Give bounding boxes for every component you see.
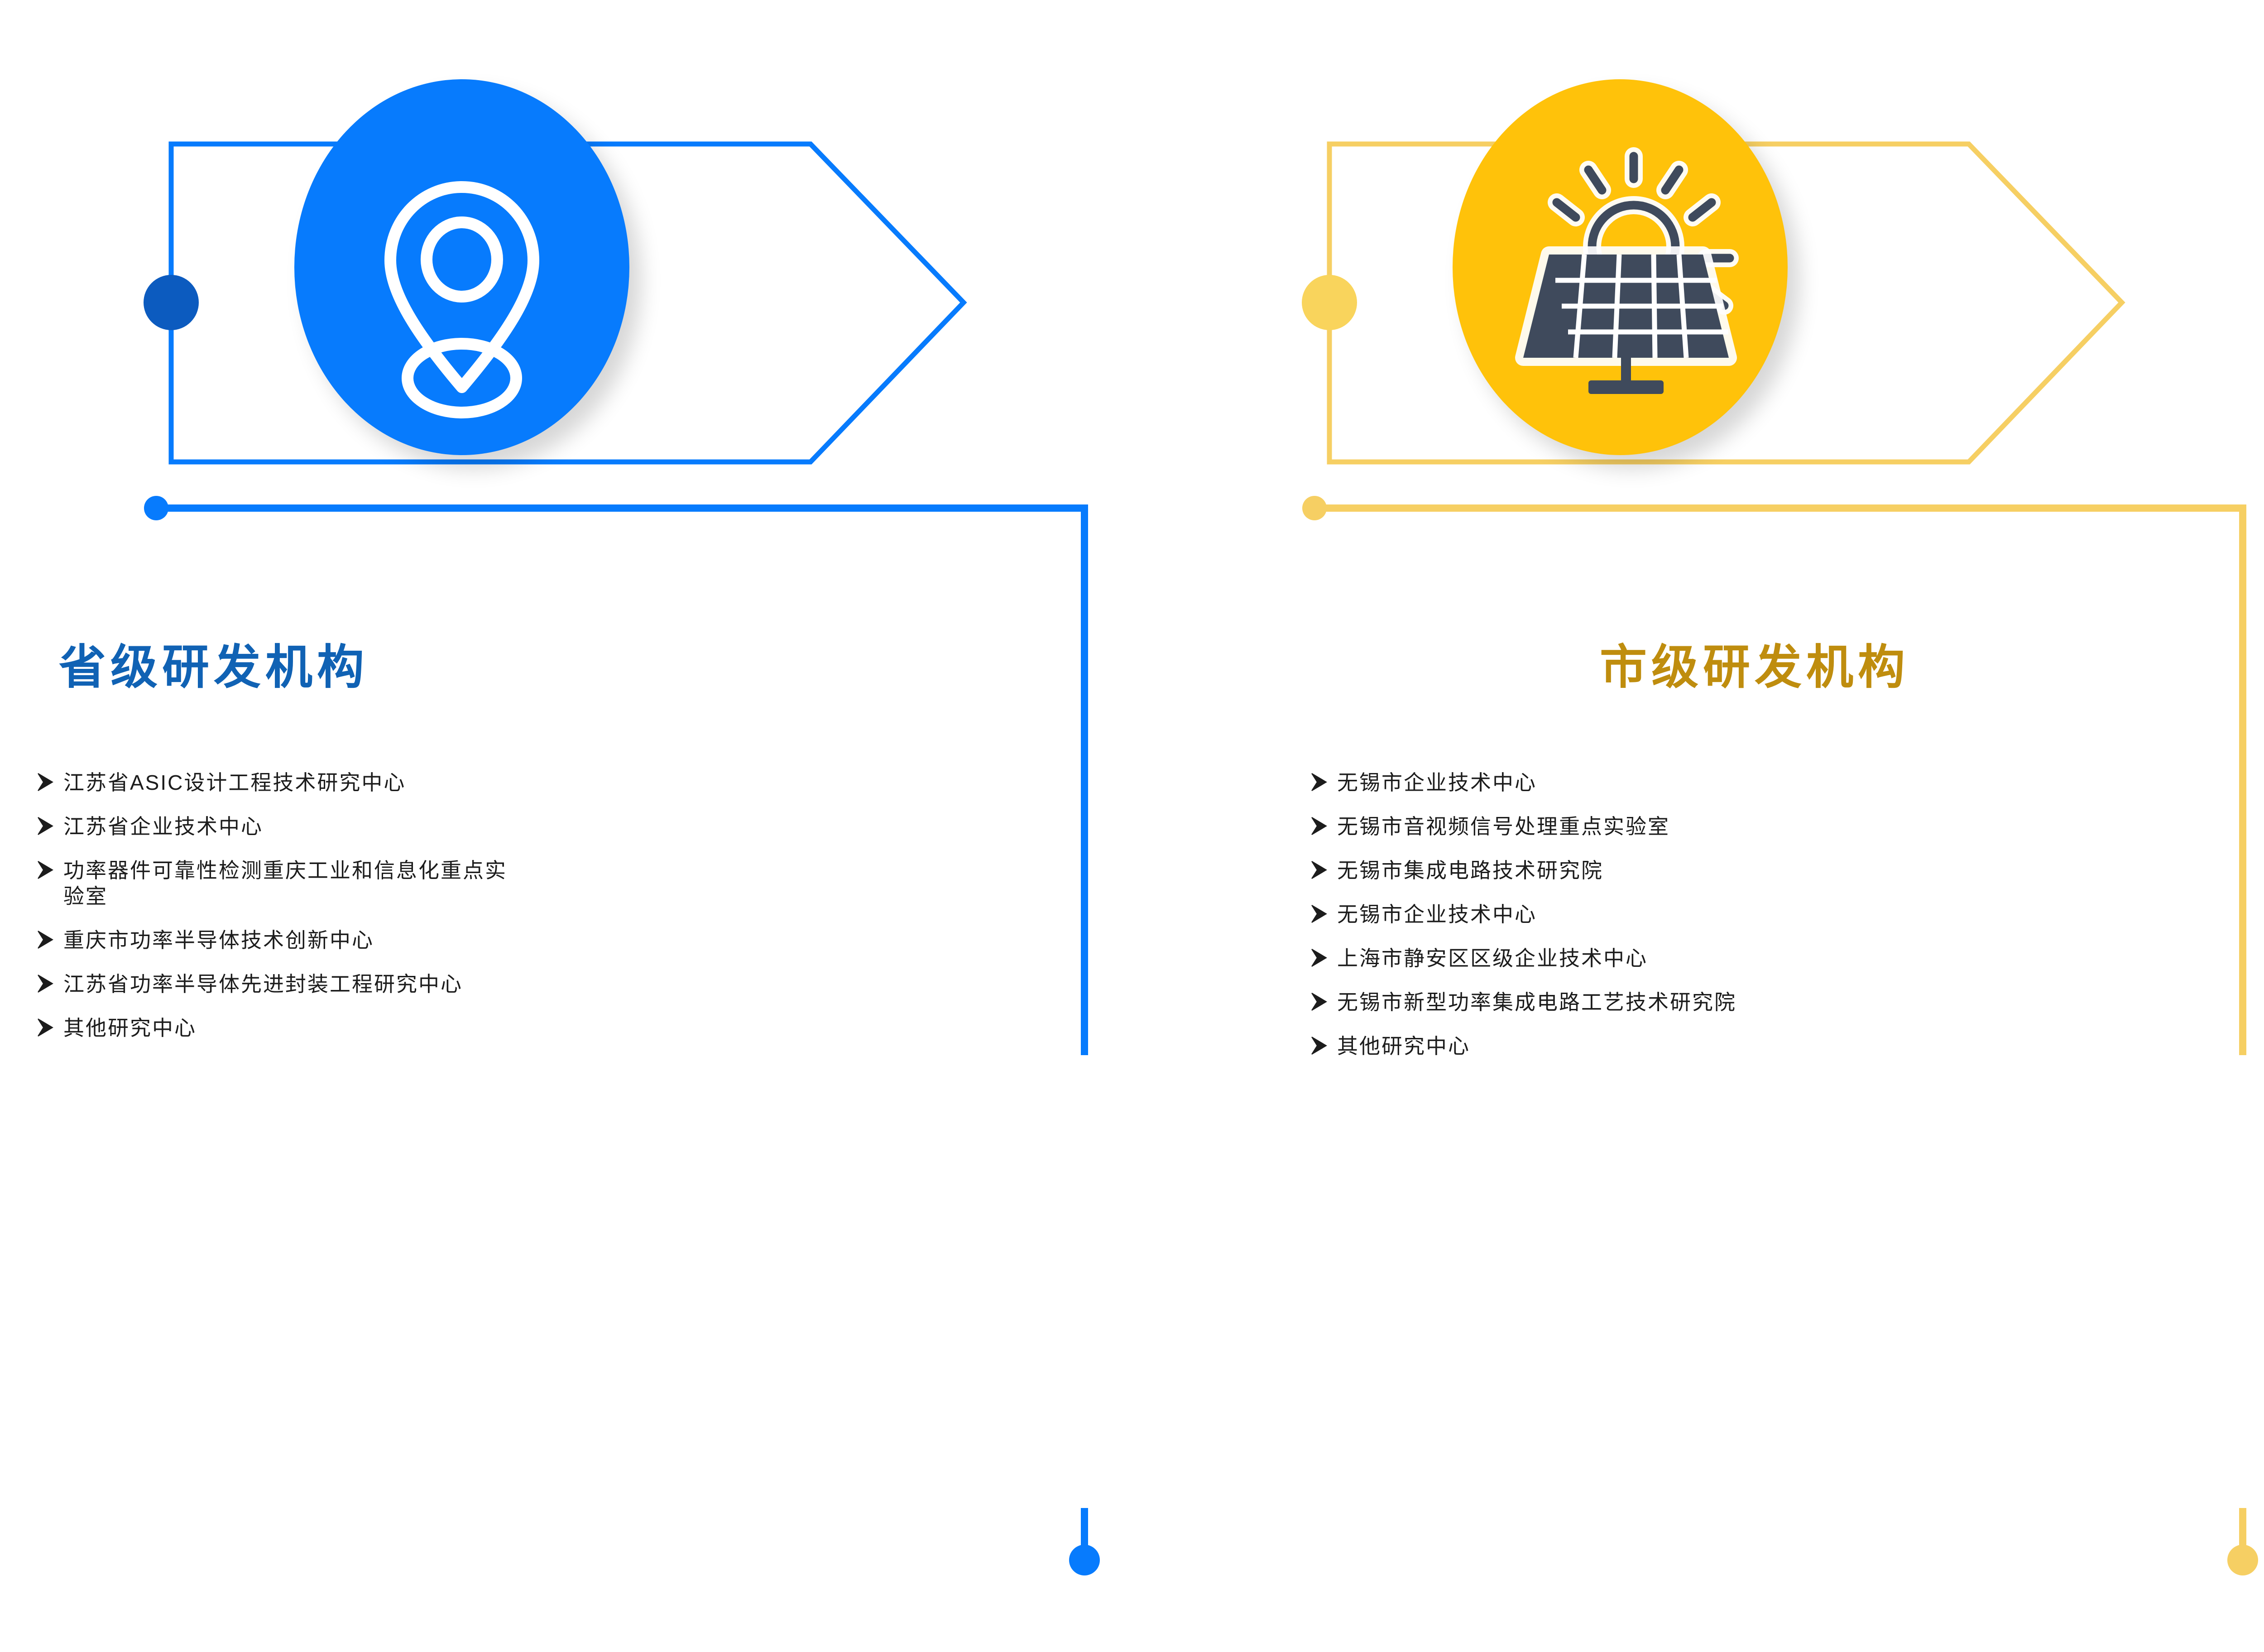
infographic-canvas: 省级研发机构 江苏省ASIC设计工程技术研究中心 江苏省企业技术中心 功率器件可… [0,0,2264,1652]
connector-tail-dots [0,0,2264,1652]
